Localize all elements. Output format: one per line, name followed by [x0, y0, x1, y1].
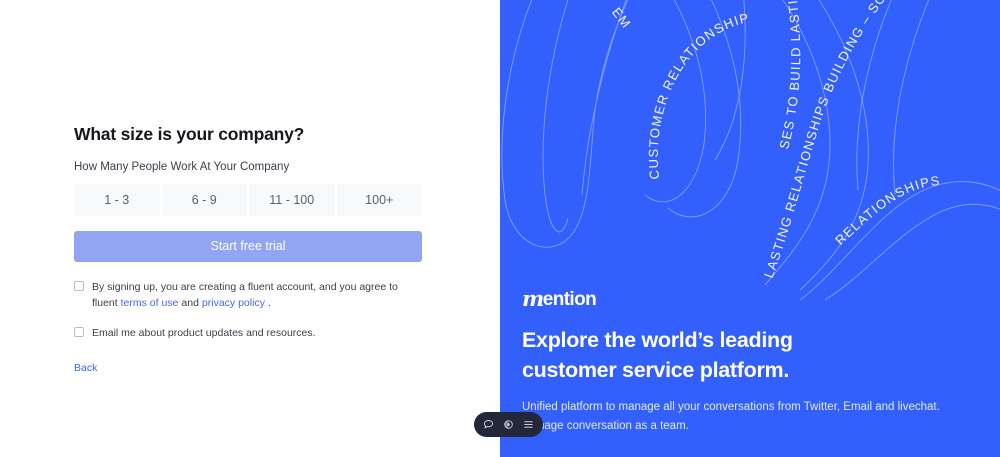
- decorative-text-lasting-relationships: RELATIONSHIPS: [832, 173, 941, 248]
- hamburger-menu-icon[interactable]: [523, 419, 534, 430]
- hero-panel: EM CUSTOMER RELATIONSHIP SES TO BUILD LA…: [500, 0, 1000, 457]
- floating-chat-widget[interactable]: [474, 412, 543, 437]
- consent-period: .: [268, 297, 271, 309]
- decorative-mention-artwork: EM CUSTOMER RELATIONSHIP SES TO BUILD LA…: [500, 0, 1000, 300]
- terms-consent-label: By signing up, you are creating a fluent…: [92, 279, 422, 312]
- mention-logomark-icon: m: [522, 288, 543, 309]
- size-option-6-9[interactable]: 6 - 9: [162, 184, 248, 216]
- company-size-field-label: How Many People Work At Your Company: [74, 160, 422, 175]
- hero-heading-line1: Explore the world’s leading: [522, 328, 793, 352]
- terms-consent-row: By signing up, you are creating a fluent…: [74, 279, 422, 312]
- chat-bubble-icon[interactable]: [483, 419, 494, 430]
- hero-subtitle: Unified platform to manage all your conv…: [522, 398, 972, 435]
- size-option-1-3[interactable]: 1 - 3: [74, 184, 160, 216]
- signup-form-panel: What size is your company? How Many Peop…: [0, 0, 500, 457]
- consent-conjunction: and: [181, 297, 199, 309]
- accessibility-eye-icon[interactable]: [503, 419, 514, 430]
- start-free-trial-button[interactable]: Start free trial: [74, 231, 422, 262]
- size-option-11-100[interactable]: 11 - 100: [249, 184, 335, 216]
- hero-content: m ention Explore the world’s leading cus…: [522, 287, 978, 435]
- size-option-100-plus[interactable]: 100+: [337, 184, 423, 216]
- decorative-text-customer-relationship: CUSTOMER RELATIONSHIP: [646, 10, 751, 180]
- hero-heading: Explore the world’s leading customer ser…: [522, 326, 978, 385]
- decorative-text-businesses-to-build-lasting: SES TO BUILD LASTING: [500, 0, 803, 151]
- signup-page: What size is your company? How Many Peop…: [0, 0, 1000, 457]
- marketing-optin-label: Email me about product updates and resou…: [92, 325, 316, 341]
- marketing-optin-row: Email me about product updates and resou…: [74, 325, 422, 341]
- company-size-options: 1 - 3 6 - 9 11 - 100 100+: [74, 184, 422, 216]
- terms-of-use-link[interactable]: terms of use: [121, 297, 179, 309]
- marketing-optin-checkbox[interactable]: [74, 327, 84, 337]
- back-link[interactable]: Back: [74, 362, 97, 374]
- mention-logo: m ention: [522, 287, 978, 309]
- mention-wordmark: ention: [543, 290, 596, 309]
- decorative-text-em: EM: [609, 5, 634, 32]
- privacy-policy-link[interactable]: privacy policy: [202, 297, 265, 309]
- form-container: What size is your company? How Many Peop…: [74, 124, 422, 376]
- decorative-text-social-media-building: LASTING RELATIONSHIPS BUILDING – SOCIAL …: [500, 0, 905, 280]
- terms-consent-checkbox[interactable]: [74, 281, 84, 291]
- hero-heading-line2: customer service platform.: [522, 358, 789, 382]
- page-title: What size is your company?: [74, 124, 422, 145]
